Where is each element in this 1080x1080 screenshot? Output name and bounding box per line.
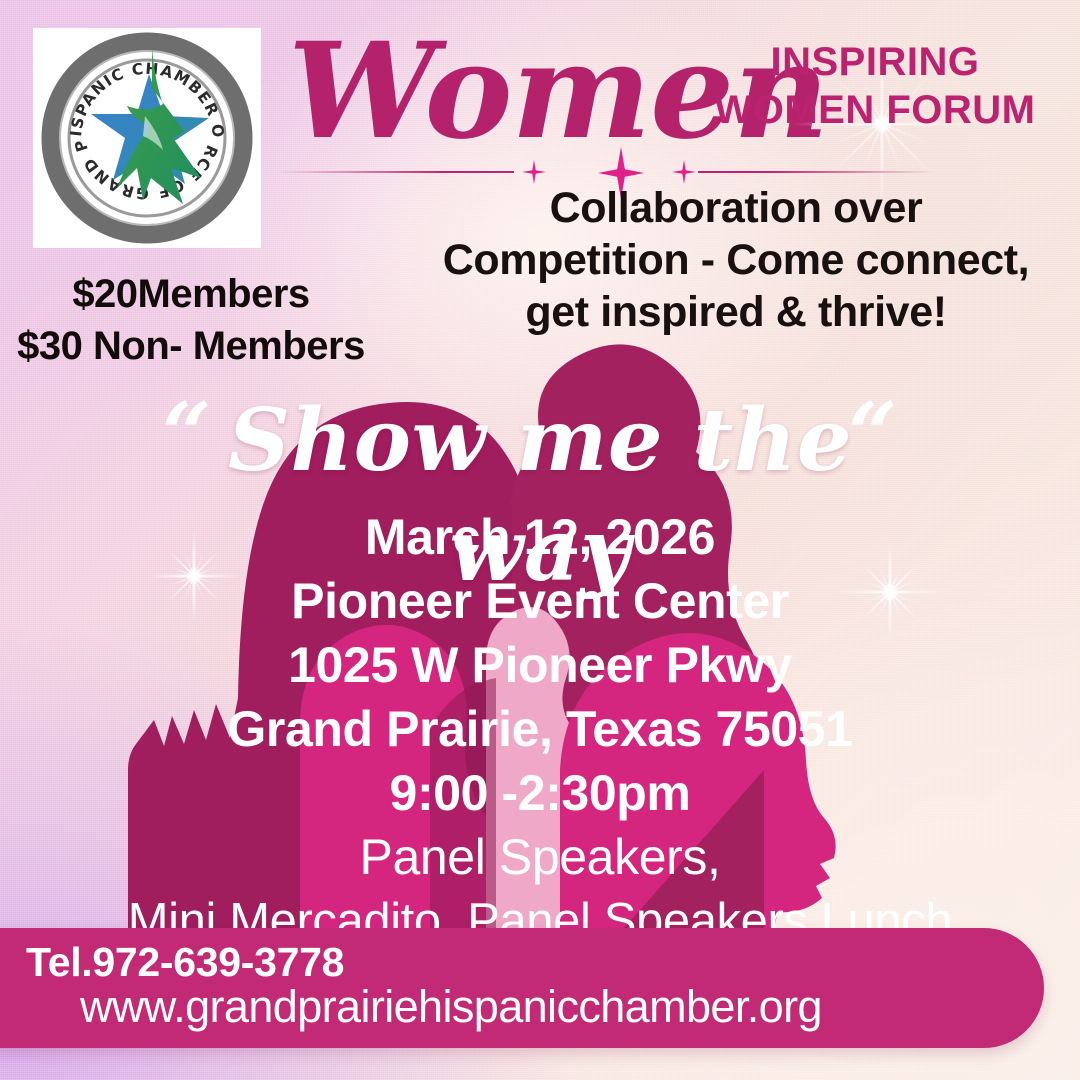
tagline-line-1: Collaboration over — [416, 182, 1056, 234]
event-flyer: HISPANIC CHAMBER OF COMMERCE OF GRAND PR… — [0, 0, 1080, 1080]
detail-venue: Pioneer Event Center — [60, 569, 1020, 633]
contact-footer-bar: Tel.972-639-3778 www.grandprairiehispani… — [0, 928, 1044, 1048]
price-non-members: $30 Non- Members — [0, 320, 382, 372]
forum-title-line-2: WOMEN FORUM — [700, 86, 1050, 134]
divider-rule-left — [276, 171, 514, 173]
tagline-line-3: get inspired & thrive! — [416, 286, 1056, 338]
divider-star-small-right — [672, 160, 696, 184]
detail-city-state-zip: Grand Prairie, Texas 75051 — [60, 697, 1020, 761]
forum-title-line-1: INSPIRING — [700, 38, 1050, 86]
event-details-block: March 12, 2026 Pioneer Event Center 1025… — [60, 505, 1020, 953]
page-title-script: Women — [288, 22, 718, 162]
detail-time: 9:00 -2:30pm — [60, 761, 1020, 825]
phone-number[interactable]: Tel.972-639-3778 — [26, 938, 344, 986]
divider-rule-right — [698, 171, 936, 173]
price-members: $20Members — [0, 268, 382, 320]
quote-close-mark: “ — [848, 392, 897, 478]
divider-star-small-left — [522, 160, 546, 184]
detail-panel-speakers: Panel Speakers, — [60, 825, 1020, 889]
forum-title-block: INSPIRING WOMEN FORUM — [700, 38, 1050, 134]
chamber-logo-seal: HISPANIC CHAMBER OF COMMERCE OF GRAND PR… — [33, 28, 261, 248]
tagline-block: Collaboration over Competition - Come co… — [416, 182, 1056, 338]
tagline-line-2: Competition - Come connect, — [416, 234, 1056, 286]
quote-block: “ Show me the way “ — [0, 392, 1080, 502]
detail-street: 1025 W Pioneer Pkwy — [60, 633, 1020, 697]
website-url[interactable]: www.grandprairiehispanicchamber.org — [80, 980, 822, 1034]
detail-date: March 12, 2026 — [60, 505, 1020, 569]
pricing-block: $20Members $30 Non- Members — [0, 268, 382, 372]
